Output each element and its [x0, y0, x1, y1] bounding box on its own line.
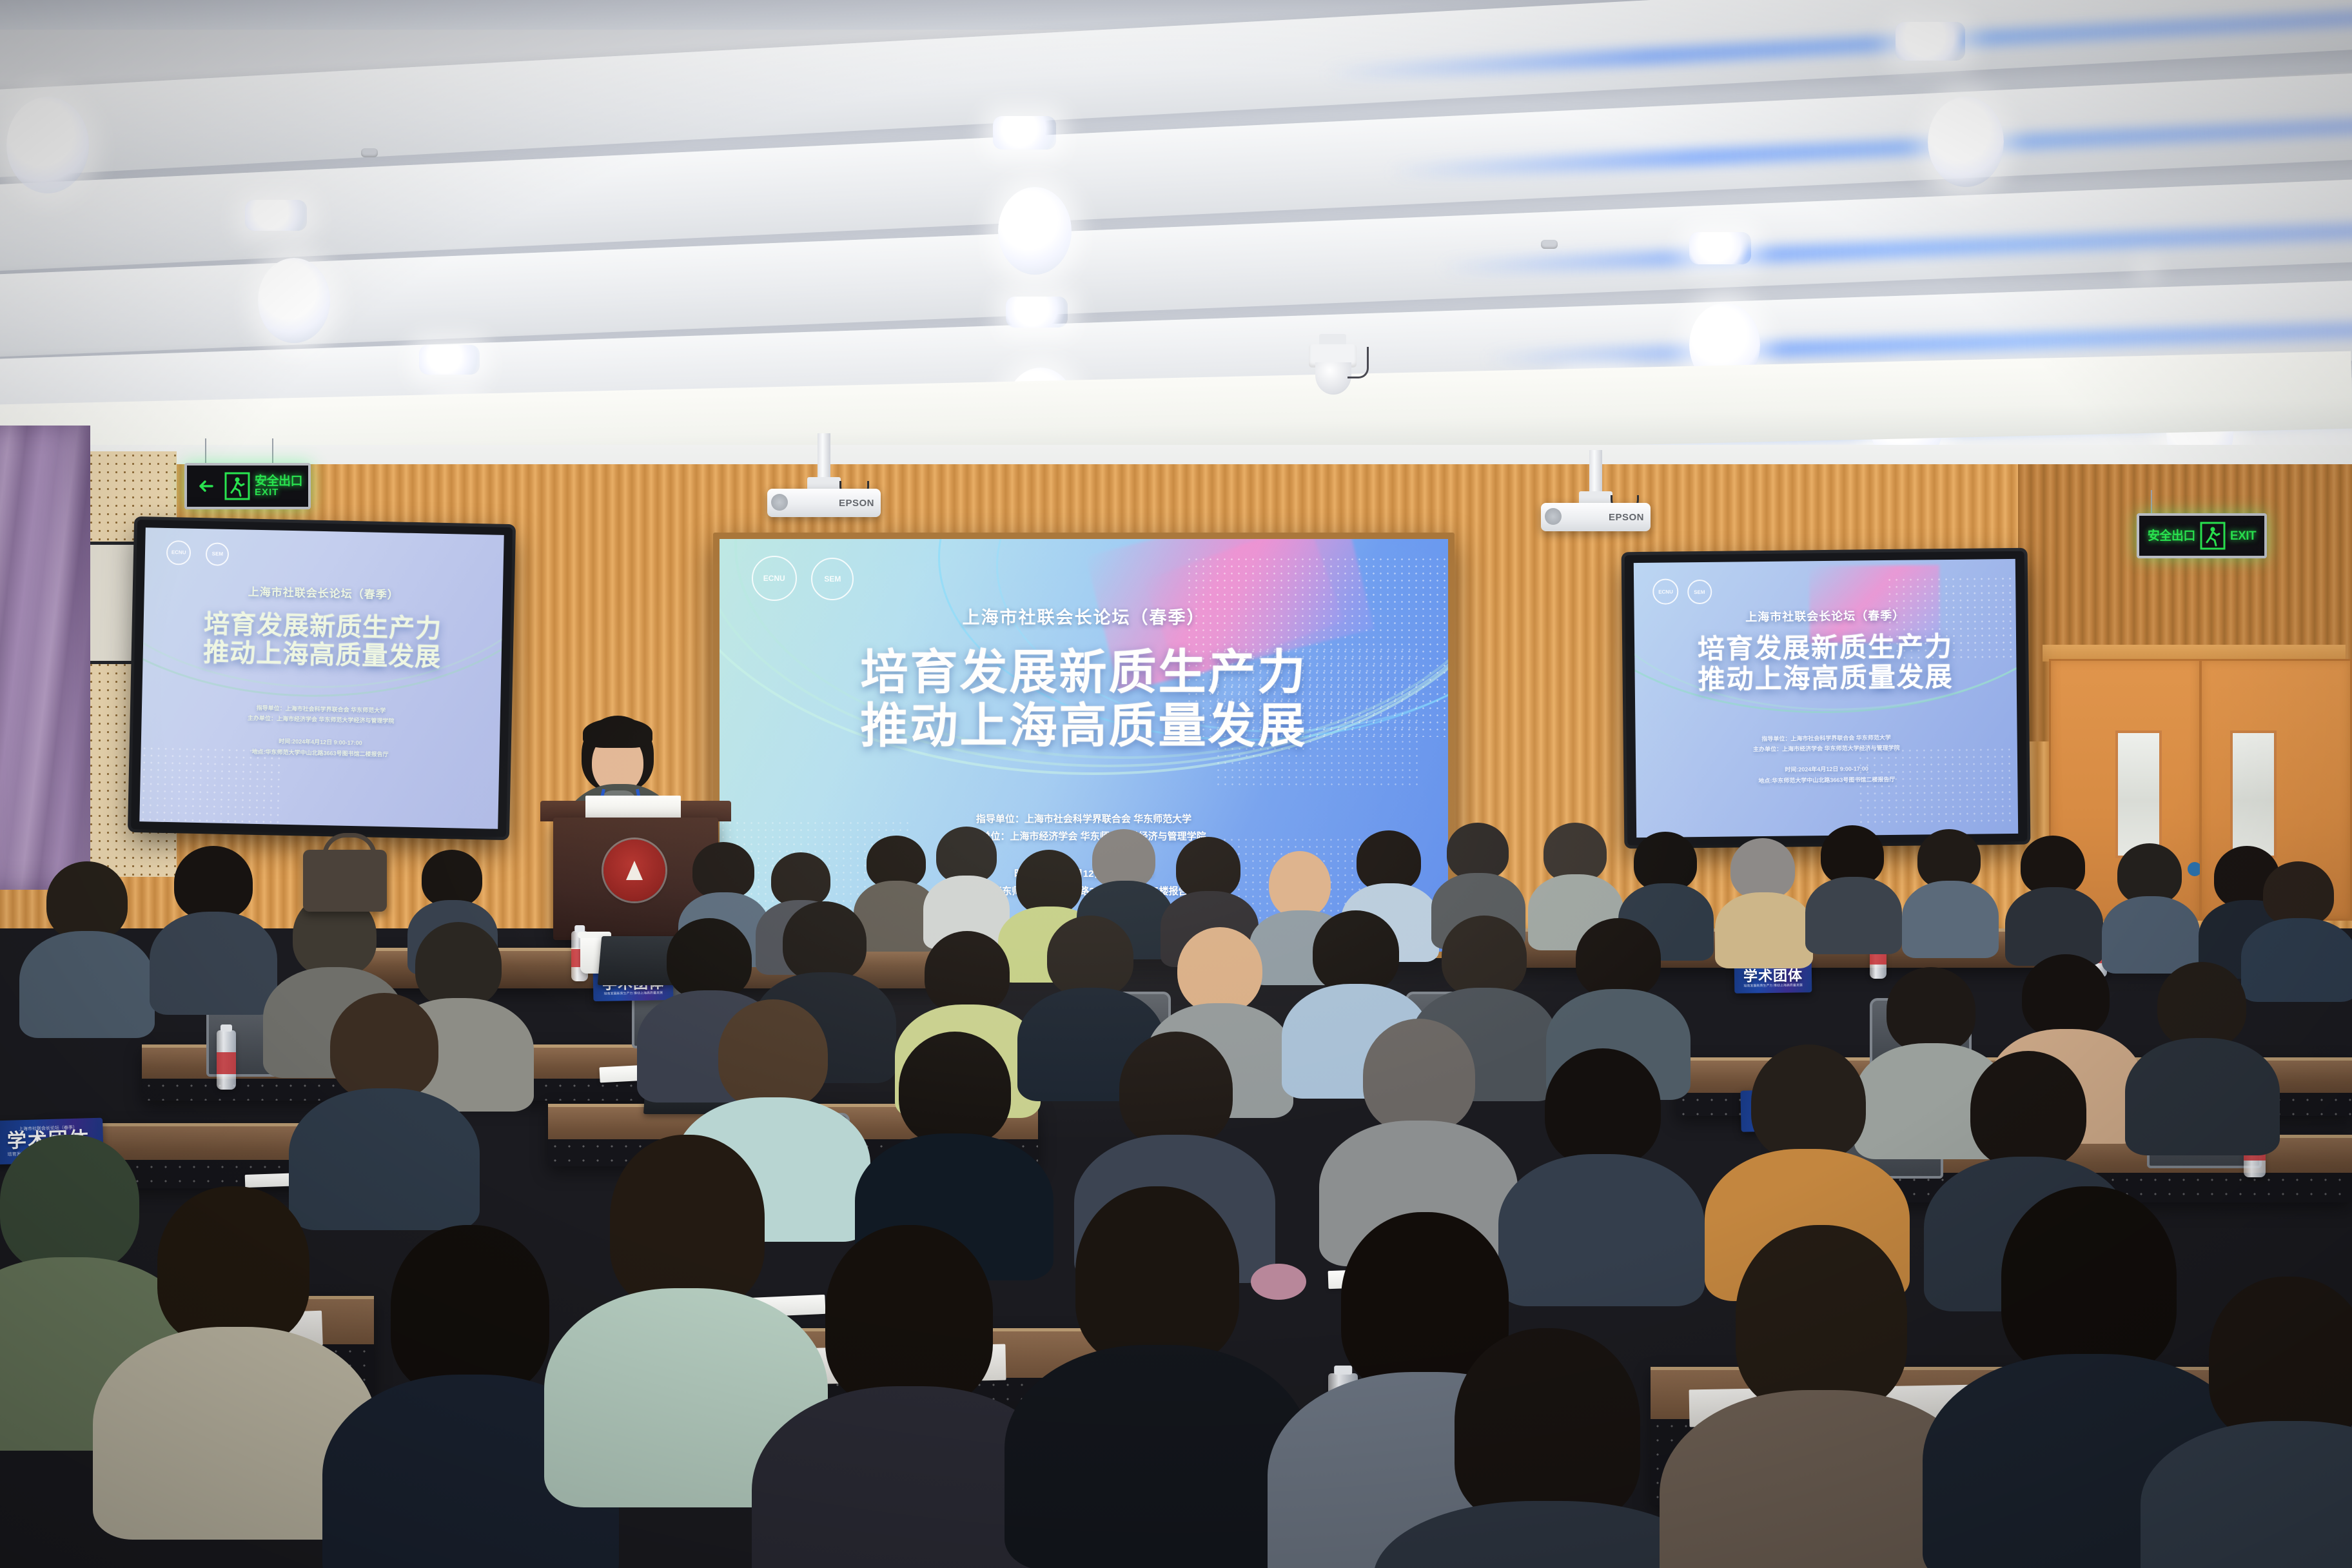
sprinkler-head — [361, 148, 378, 157]
ceiling-downlight — [993, 116, 1056, 150]
main-meta-guidance: 指导单位：上海市社会科学界联合会 华东师范大学 — [720, 811, 1448, 828]
exit-sign-text: 安全出口 — [2148, 530, 2195, 542]
side-display-right: ECNU SEM 上海市社联会长论坛（春季） 培育发展新质生产力 推动上海高质量… — [1625, 551, 2028, 845]
main-title: 培育发展新质生产力 推动上海高质量发展 — [720, 646, 1448, 753]
projector-lens — [771, 494, 788, 511]
ceiling-downlight — [419, 345, 480, 375]
side-right-title: 培育发展新质生产力 推动上海高质量发展 — [1634, 630, 2017, 694]
ceiling-downlight — [1928, 97, 2004, 187]
exit-sign-cable — [205, 438, 206, 465]
audience-member — [161, 846, 264, 1003]
running-man-icon — [2199, 521, 2226, 551]
main-kicker: 上海市社联会长论坛（春季） — [720, 603, 1448, 629]
ecnu-seal-logo: ECNU — [752, 556, 797, 601]
main-title-line-2: 推动上海高质量发展 — [720, 700, 1448, 753]
projector-lens — [1545, 508, 1562, 525]
ceiling-downlight — [998, 187, 1072, 275]
audience-member — [2141, 962, 2262, 1136]
exit-sign-right: 安全出口 EXIT — [2137, 513, 2267, 558]
audience-member — [1812, 825, 1893, 944]
side-display-left: ECNU SEM 上海市社联会长论坛（春季） 培育发展新质生产力 推动上海高质量… — [131, 520, 513, 837]
door-window — [2115, 730, 2162, 858]
audience-member — [877, 1032, 1032, 1256]
audience-member — [1908, 829, 1990, 948]
audience-member-foreground — [1702, 1225, 1941, 1568]
conference-hall-photo: 安全出口 EXIT 安全出口 EXIT ECNU SEM 上 — [0, 0, 2352, 1568]
speaker-fringe — [583, 718, 652, 748]
audience-member — [32, 861, 142, 1023]
podium-ecnu-crest — [603, 839, 665, 901]
audience-member — [1721, 838, 1804, 958]
side-display-right-surface: ECNU SEM 上海市社联会长论坛（春季） 培育发展新质生产力 推动上海高质量… — [1633, 559, 2018, 838]
sem-seal-logo: SEM — [1687, 580, 1712, 604]
ceiling-downlight — [6, 97, 89, 193]
side-right-when: 时间:2024年4月12日 9:00-17:00 地点:华东师范大学中山北路36… — [1636, 762, 2018, 787]
main-title-line-1: 培育发展新质生产力 — [720, 646, 1448, 700]
exit-sign-text: 安全出口 EXIT — [255, 475, 302, 497]
small-object-on-table — [1251, 1264, 1306, 1300]
audience-member — [2012, 836, 2094, 955]
projector-brand: EPSON — [839, 498, 881, 509]
running-man-icon — [224, 471, 251, 501]
audience-member-foreground — [1418, 1328, 1676, 1568]
audience-member-foreground — [580, 1135, 793, 1483]
audience-member-foreground — [1044, 1186, 1270, 1547]
placard-bottom-line: 培育发展新质生产力 推动上海高质量发展 — [1743, 984, 1802, 988]
side-right-meta: 指导单位：上海市社会科学界联合会 华东师范大学 主办单位：上海市经济学会 华东师… — [1635, 732, 2017, 756]
audience-member — [1522, 1048, 1681, 1278]
side-display-left-surface: ECNU SEM 上海市社联会长论坛（春季） 培育发展新质生产力 推动上海高质量… — [139, 528, 504, 829]
water-bottle[interactable] — [217, 1030, 236, 1090]
ceiling-downlight — [245, 200, 307, 231]
exit-arrow-icon — [193, 471, 220, 501]
exit-sign-cable — [272, 438, 273, 465]
audience-member — [928, 827, 1004, 943]
ceiling-downlight — [258, 258, 330, 343]
placard-main-text: 学术团体 — [1743, 968, 1803, 983]
side-left-meta: 指导单位：上海市社会科学界联合会 华东师范大学 主办单位：上海市经济学会 华东师… — [141, 701, 500, 729]
exit-sign-text-en: EXIT — [2230, 530, 2256, 542]
exit-sign-left: 安全出口 EXIT — [184, 463, 311, 509]
projector-right: EPSON — [1541, 450, 1651, 531]
audience-member — [309, 993, 458, 1206]
audience-member — [2250, 861, 2347, 990]
audience-member — [2108, 843, 2191, 963]
audience-member-foreground — [793, 1225, 1025, 1568]
ceiling-downlight — [1896, 22, 1965, 61]
audience-member — [1341, 1019, 1496, 1242]
audience-member-foreground — [2179, 1277, 2352, 1568]
ptz-camera — [1305, 334, 1369, 398]
projector-left: EPSON — [767, 433, 881, 517]
projector-brand: EPSON — [1609, 512, 1651, 523]
audience-member-foreground — [129, 1186, 342, 1522]
ceiling-downlight — [1006, 297, 1068, 328]
ceiling-downlight — [1689, 232, 1751, 264]
sprinkler-head — [1541, 240, 1558, 249]
window-curtain — [0, 426, 90, 890]
exit-sign-cable — [2151, 490, 2152, 516]
door-window — [2230, 730, 2277, 858]
side-left-title: 培育发展新质生产力 推动上海高质量发展 — [142, 609, 502, 674]
